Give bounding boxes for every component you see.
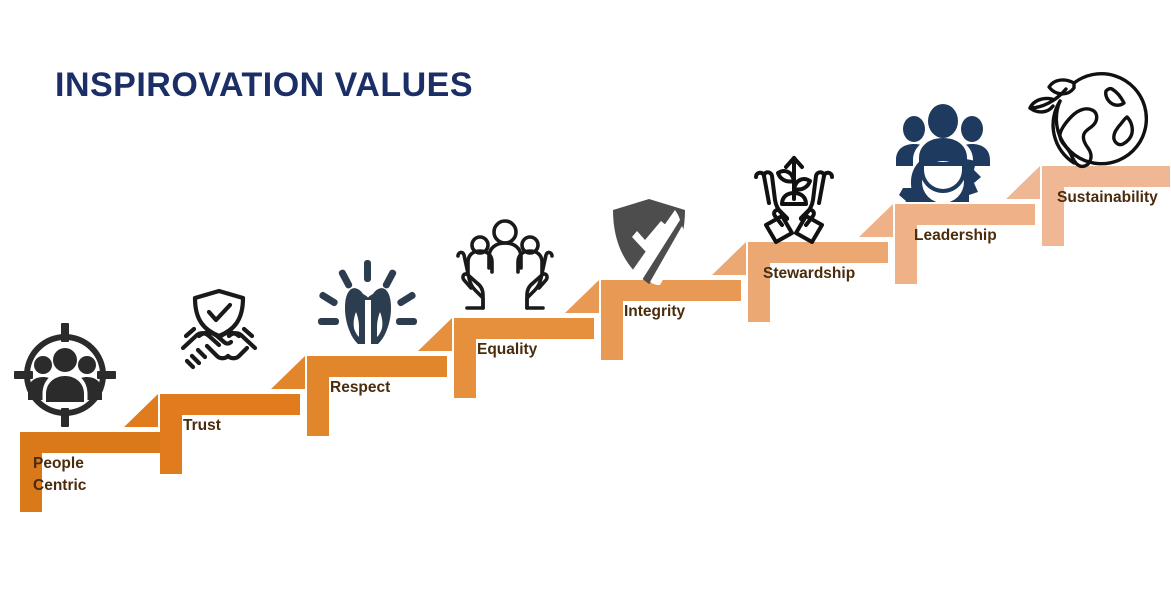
step-connector-wedge: [565, 280, 599, 313]
step-connector-wedge: [712, 242, 746, 275]
step-label: Integrity: [624, 301, 744, 323]
step-connector-wedge: [859, 204, 893, 237]
step-label: Stewardship: [763, 263, 893, 285]
step-connector-wedge: [271, 356, 305, 389]
globe-leaf-icon: [1022, 61, 1148, 179]
step-horizontal-bar: [454, 318, 594, 339]
shield-check-icon: [608, 196, 690, 288]
page-title: INSPIROVATION VALUES: [55, 66, 473, 105]
step-label: Trust: [183, 415, 303, 437]
step-label: Sustainability: [1057, 187, 1171, 209]
step-label: People Centric: [33, 453, 153, 497]
infographic-canvas: INSPIROVATION VALUES People Centric: [0, 0, 1171, 594]
praying-hands-rays-icon: [316, 256, 420, 350]
handshake-shield-icon: [171, 286, 267, 376]
step-horizontal-bar: [307, 356, 447, 377]
step-label: Respect: [330, 377, 450, 399]
step-label: Equality: [477, 339, 597, 361]
step-connector-wedge: [124, 394, 158, 427]
step-connector-wedge: [418, 318, 452, 351]
step-horizontal-bar: [748, 242, 888, 263]
step-horizontal-bar: [160, 394, 300, 415]
step-horizontal-bar: [20, 432, 160, 453]
step-label: Leadership: [914, 225, 1044, 247]
step-horizontal-bar: [895, 204, 1035, 225]
hands-plant-arrow-icon: [742, 141, 846, 245]
target-people-icon: [12, 321, 118, 429]
hands-holding-people-icon: [452, 216, 558, 316]
people-gear-icon: [890, 96, 996, 202]
